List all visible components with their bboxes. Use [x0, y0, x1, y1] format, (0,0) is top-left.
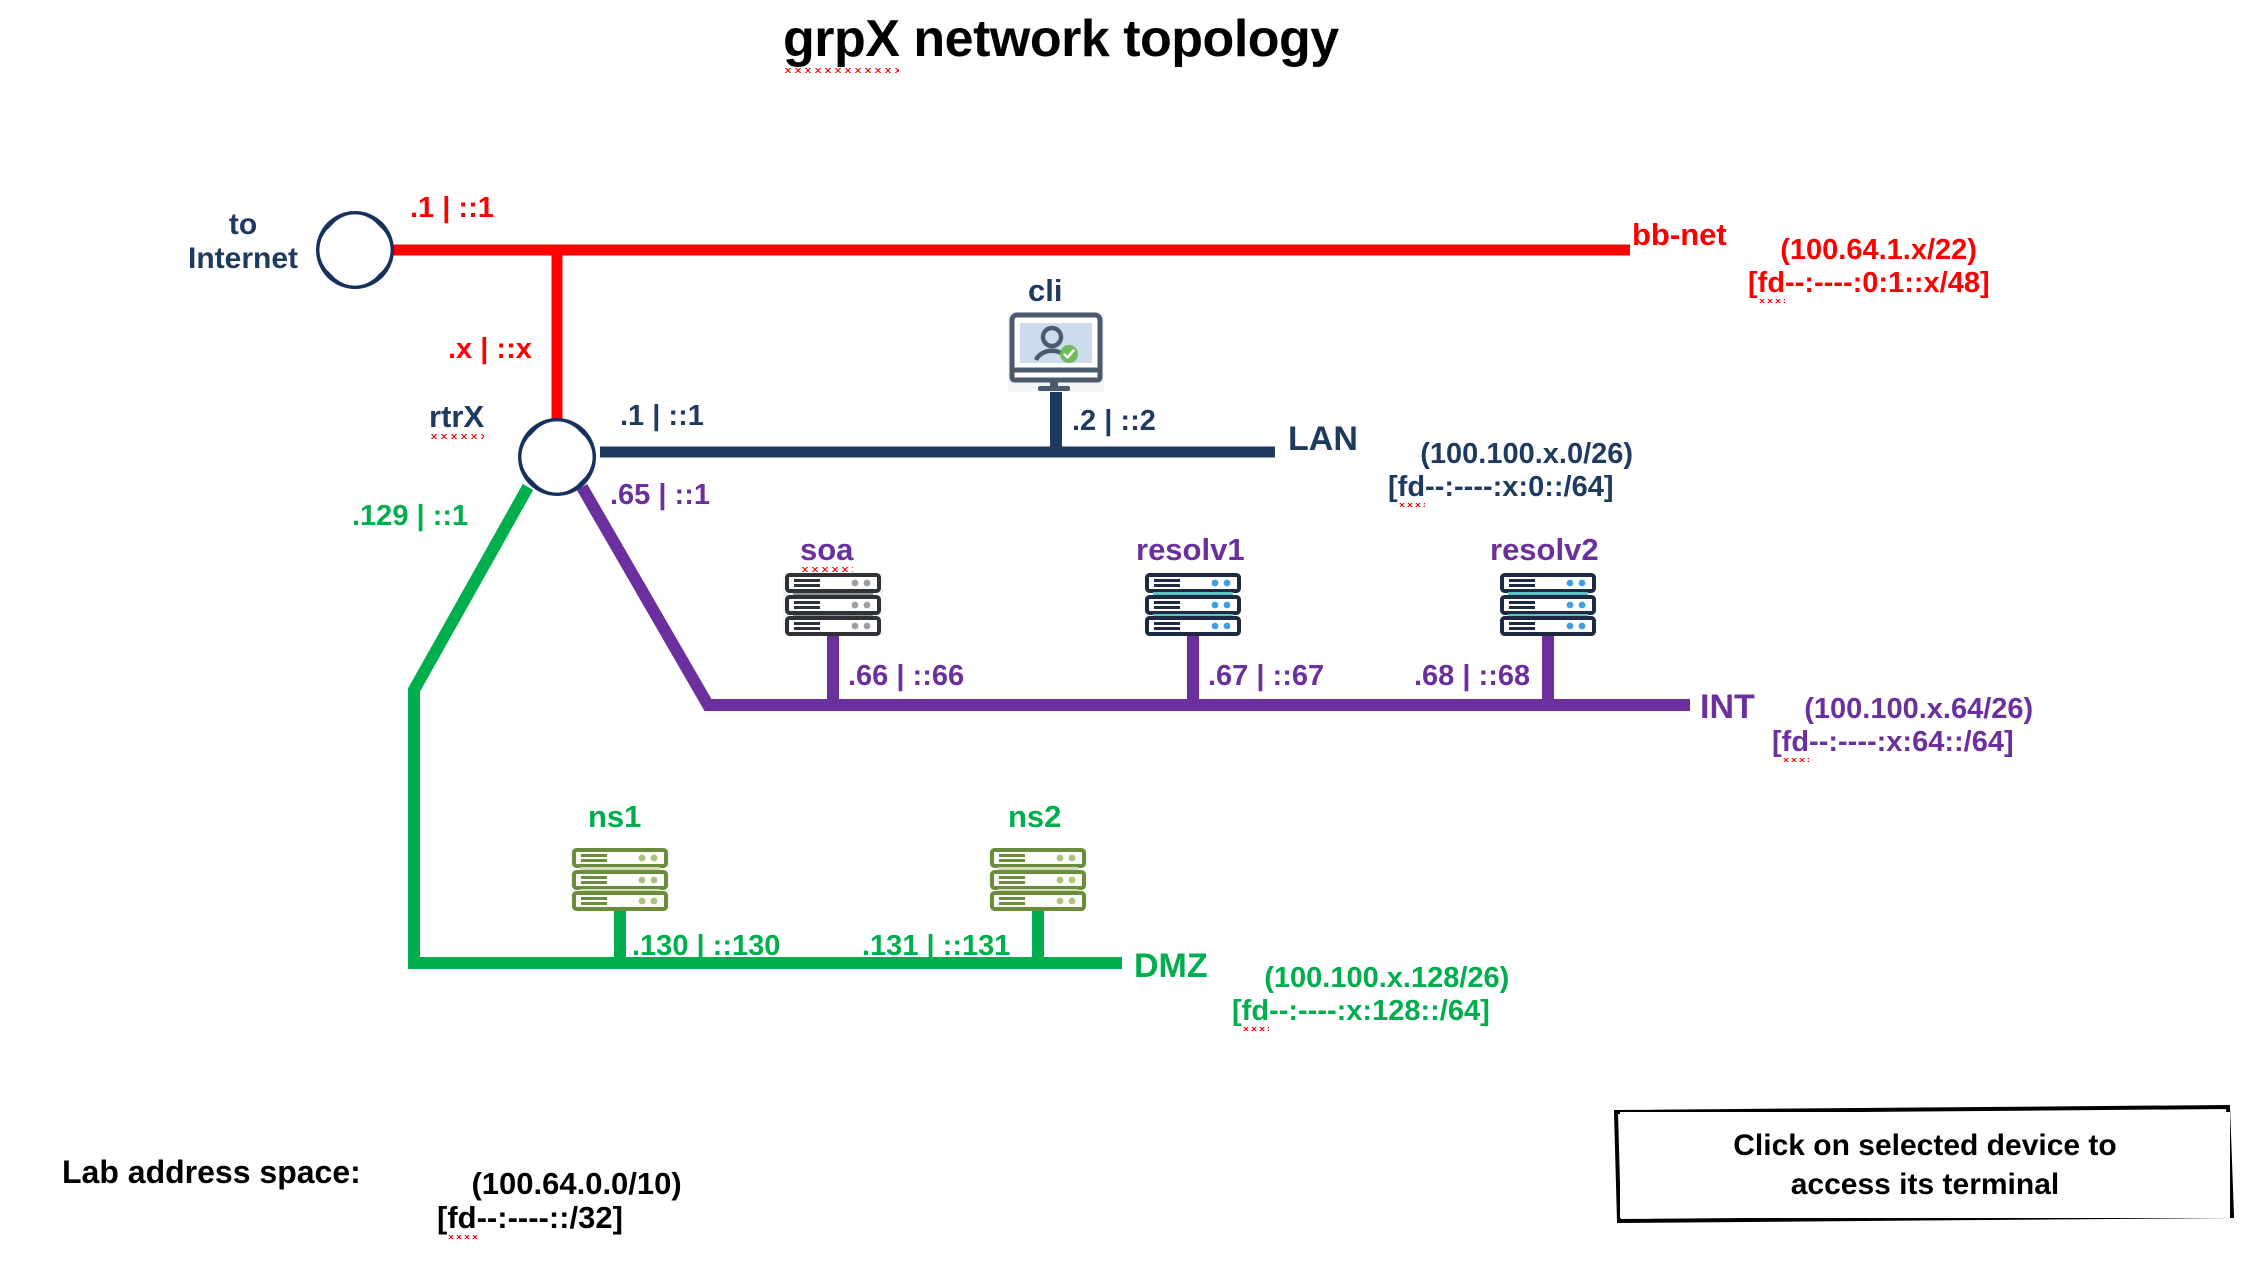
iface-label-ns2: .131 | ::131 [862, 930, 1010, 962]
node-label-internet-line2: Internet [188, 242, 298, 275]
network-name-int: INT [1700, 688, 1755, 726]
network-ipv4-bb-net: (100.64.1.x/22) [1780, 234, 1977, 266]
callout-text: Click on selected device to access its t… [1733, 1126, 2116, 1204]
lab-ipv6: [fd--:----::/32] [437, 1200, 623, 1239]
network-ipv6-bb-net: [fd--:----:0:1::x/48] [1748, 267, 1990, 303]
network-ipv6-int: [fd--:----:x:64::/64] [1772, 726, 2014, 762]
network-name-lan: LAN [1288, 420, 1358, 458]
network-name-dmz: DMZ [1134, 947, 1208, 985]
network-prefix-bb-net: (100.64.1.x/22)[fd--:----:0:1::x/48] [1748, 202, 1990, 332]
iface-label-cli: .2 | ::2 [1072, 405, 1156, 437]
server-rack-icon-soa[interactable] [783, 573, 883, 635]
server-rack-icon-ns1[interactable] [570, 848, 670, 910]
network-links-canvas [0, 0, 2258, 1268]
iface-label-resolv2: .68 | ::68 [1414, 660, 1530, 692]
lab-address-space-label: Lab address space: [62, 1155, 361, 1191]
network-ipv6-dmz: [fd--:----:x:128::/64] [1232, 995, 1490, 1031]
iface-label-rtrx-bbnet: .x | ::x [448, 333, 532, 365]
network-ipv6-dmz-misspelled: fd [1242, 995, 1269, 1031]
node-label-rtrx-misspelled: rtrX [429, 399, 484, 439]
network-ipv6-lan: [fd--:----:x:0::/64] [1388, 471, 1614, 507]
node-label-ns2: ns2 [1008, 800, 1061, 835]
callout-box: Click on selected device to access its t… [1620, 1112, 2230, 1218]
iface-label-internet-bbnet: .1 | ::1 [410, 192, 494, 224]
router-icon-rtrx[interactable] [518, 418, 596, 496]
server-rack-icon-ns2[interactable] [988, 848, 1088, 910]
callout-line2: access its terminal [1791, 1168, 2060, 1201]
page-title-rest: network topology [899, 10, 1338, 68]
callout-line1: Click on selected device to [1733, 1129, 2116, 1162]
network-ipv6-lan-misspelled: fd [1398, 471, 1425, 507]
network-ipv4-int: (100.100.x.64/26) [1804, 693, 2033, 725]
iface-label-soa: .66 | ::66 [848, 660, 964, 692]
network-ipv4-dmz: (100.100.x.128/26) [1264, 962, 1509, 994]
lab-address-space-value: (100.64.0.0/10)[fd--:----::/32] [437, 1132, 682, 1271]
node-label-ns1: ns1 [588, 800, 641, 835]
network-name-bb-net: bb-net [1632, 218, 1727, 253]
server-rack-icon-resolv1[interactable] [1143, 573, 1243, 635]
node-label-resolv2: resolv2 [1490, 533, 1599, 568]
lab-ipv4: (100.64.0.0/10) [471, 1166, 681, 1201]
page-title: grpX network topology [783, 10, 1339, 68]
server-rack-icon-resolv2[interactable] [1498, 573, 1598, 635]
node-label-resolv1: resolv1 [1136, 533, 1245, 568]
network-prefix-int: (100.100.x.64/26)[fd--:----:x:64::/64] [1772, 661, 2033, 791]
iface-label-rtrx-int: .65 | ::1 [610, 479, 710, 511]
node-label-internet: toInternet [178, 208, 308, 275]
iface-label-resolv1: .67 | ::67 [1208, 660, 1324, 692]
desktop-user-icon-cli[interactable] [1008, 312, 1104, 392]
node-label-soa: soa [800, 533, 853, 568]
iface-label-rtrx-lan: .1 | ::1 [620, 400, 704, 432]
network-prefix-lan: (100.100.x.0/26)[fd--:----:x:0::/64] [1388, 406, 1633, 536]
node-label-internet-line1: to [229, 208, 257, 241]
network-ipv6-int-misspelled: fd [1782, 726, 1809, 762]
lab-ipv6-misspelled: fd [447, 1200, 476, 1239]
node-label-cli: cli [1028, 274, 1062, 309]
network-ipv4-lan: (100.100.x.0/26) [1420, 438, 1633, 470]
iface-label-rtrx-dmz: .129 | ::1 [352, 500, 468, 532]
network-ipv6-bb-net-misspelled: fd [1758, 267, 1785, 303]
network-prefix-dmz: (100.100.x.128/26)[fd--:----:x:128::/64] [1232, 930, 1509, 1060]
page-title-misspelled-word: grpX [783, 10, 899, 73]
iface-label-ns1: .130 | ::130 [632, 930, 780, 962]
router-icon-internet[interactable] [316, 211, 394, 289]
node-label-rtrx: rtrX [429, 400, 484, 435]
topology-diagram: grpX network topology toInternet .1 | ::… [0, 0, 2258, 1268]
node-label-soa-misspelled: soa [800, 532, 853, 572]
